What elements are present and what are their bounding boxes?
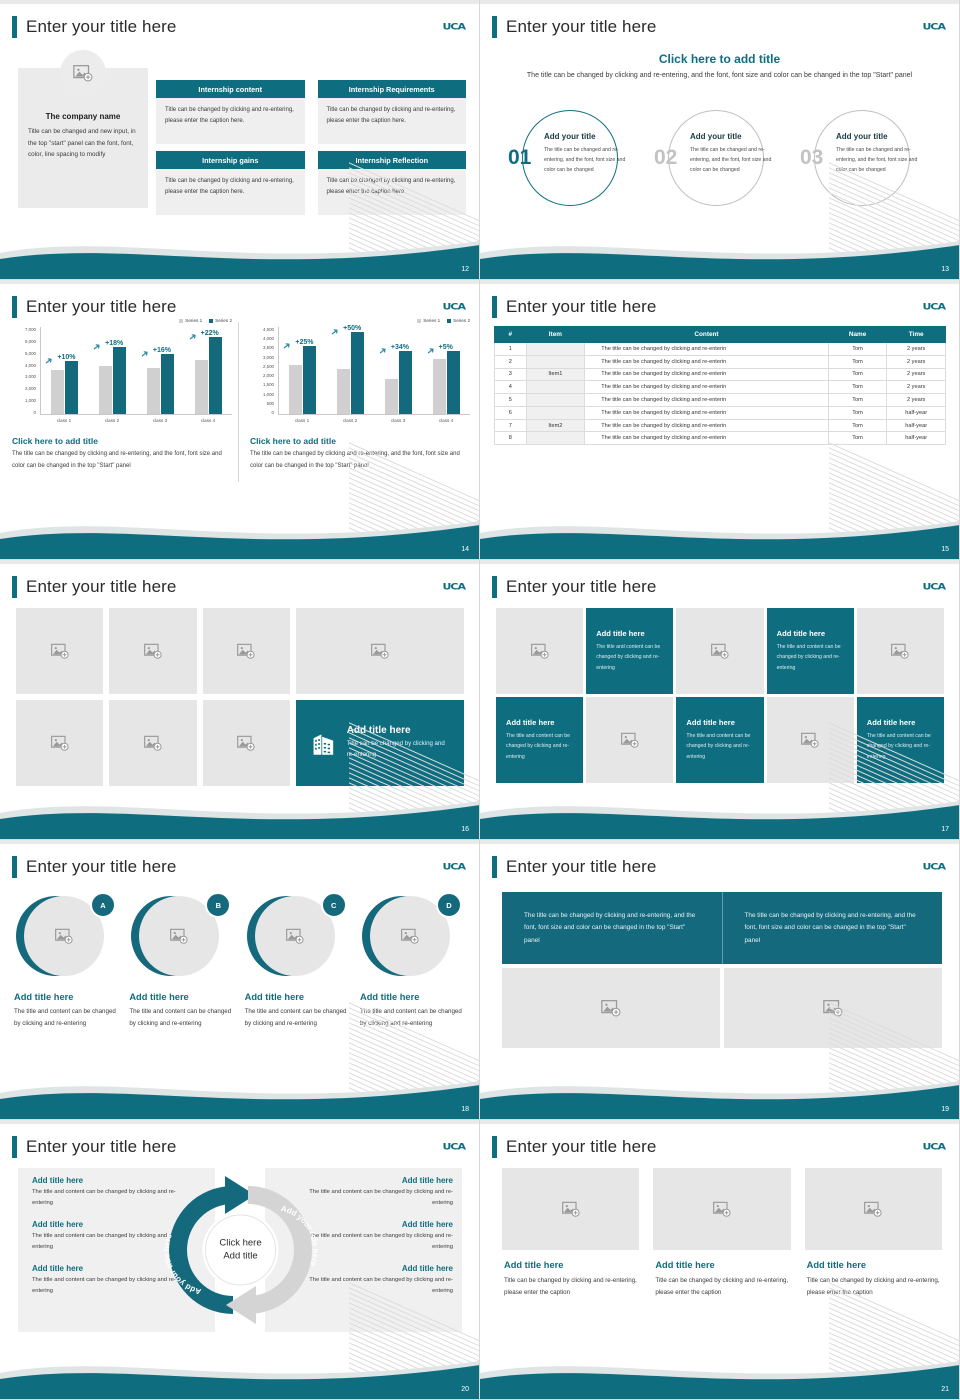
- uca-logo: UCA: [922, 1141, 945, 1151]
- circle-item[interactable]: CAdd title hereThe title and content can…: [245, 892, 351, 1030]
- legend-series-1: Series 1: [179, 318, 202, 323]
- bar-series-2: [351, 332, 364, 414]
- slide-18[interactable]: Enter your title here UCA AAdd title her…: [0, 840, 480, 1120]
- slide-header: Enter your title here: [12, 856, 176, 878]
- y-tick: 3,000: [25, 374, 36, 379]
- image-placeholder-icon: [710, 641, 730, 661]
- legend-series-2: Series 2: [447, 318, 470, 323]
- slide-number: 15: [941, 546, 949, 553]
- uca-logo: UCA: [922, 301, 945, 311]
- image-placeholder-icon: [285, 926, 305, 946]
- x-tick: class 4: [201, 418, 215, 423]
- y-tick: 2,000: [25, 386, 36, 391]
- internship-cards: Internship content Title can be changed …: [156, 80, 466, 215]
- step-02[interactable]: 02 Add your title The title can be chang…: [650, 110, 790, 218]
- item-body: The title and content can be changed by …: [245, 1006, 351, 1030]
- item-body: The title and content can be changed by …: [32, 1275, 182, 1297]
- x-axis-ticks: class 1class 2class 3class 4: [40, 418, 232, 423]
- step-text: Add your title The title can be changed …: [690, 132, 782, 175]
- card-title: Add title here: [502, 1260, 639, 1270]
- company-image-placeholder[interactable]: [60, 50, 106, 96]
- slide-header: Enter your title here: [492, 16, 656, 38]
- image-placeholder-icon: [143, 641, 163, 661]
- image-placeholder-icon: [50, 641, 70, 661]
- slide-16[interactable]: Enter your title here UCA: [0, 560, 480, 840]
- card-row: Add title hereTitle can be changed by cl…: [502, 1168, 942, 1299]
- y-tick: 3,000: [263, 355, 274, 360]
- item-title: Add title here: [32, 1176, 182, 1185]
- image-placeholder-icon: [600, 997, 622, 1019]
- item-title: Add title here: [32, 1264, 182, 1273]
- uca-logo: UCA: [922, 861, 945, 871]
- slide-20[interactable]: Enter your title here UCA Add title here…: [0, 1120, 480, 1400]
- slide-deck: Enter your title here UCA The company na…: [0, 0, 960, 1400]
- cell-time: 2 years: [887, 394, 946, 407]
- table-row[interactable]: 8The title can be changed by clicking an…: [495, 432, 946, 445]
- item-body: The title and content can be changed by …: [360, 1006, 466, 1030]
- tile-body: The title and content can be changed by …: [867, 731, 934, 763]
- tile-body: The title and content can be changed by …: [506, 731, 573, 763]
- tile-body: The title and content can be changed by …: [686, 731, 753, 763]
- slide-12[interactable]: Enter your title here UCA The company na…: [0, 0, 480, 280]
- image-placeholder-icon: [143, 733, 163, 753]
- title-accent-bar: [12, 16, 17, 38]
- growth-arrow-icon: ➜: [138, 347, 151, 361]
- image-placeholder-icon: [400, 926, 420, 946]
- cell-item: [526, 406, 585, 419]
- card-title: Internship content: [156, 80, 305, 98]
- bar-group: ➜+50%: [337, 327, 364, 414]
- tile-body: The title and content can be changed by …: [777, 642, 844, 674]
- slide-header: Enter your title here: [492, 576, 656, 598]
- card-body: Title can be changed by clicking and re-…: [318, 169, 467, 215]
- cell-item: [526, 381, 585, 394]
- cell-time: 2 years: [887, 355, 946, 368]
- tile-title: Add title here: [686, 718, 753, 727]
- chart-plot-area: ➜+25%➜+50%➜+34%➜+5%: [278, 327, 470, 415]
- bar-annotation: +10%: [57, 354, 75, 361]
- chart-caption-title[interactable]: Click here to add title: [250, 436, 336, 446]
- bar-series-2: [399, 351, 412, 414]
- page-title: Enter your title here: [26, 577, 176, 597]
- table-row[interactable]: 1The title can be changed by clicking an…: [495, 343, 946, 356]
- card-image-placeholder[interactable]: [805, 1168, 942, 1250]
- x-axis-ticks: class 1class 2class 3class 4: [278, 418, 470, 423]
- slide-13[interactable]: Enter your title here UCA Click here to …: [480, 0, 960, 280]
- slide-number: 12: [461, 266, 469, 273]
- page-title: Enter your title here: [26, 17, 176, 37]
- company-body: Title can be changed and new input, in t…: [28, 126, 138, 161]
- chart-caption-body: The title can be changed by clicking and…: [250, 449, 466, 472]
- card-body: Title can be changed by clicking and re-…: [502, 1275, 639, 1299]
- bar-series-1: [337, 369, 350, 414]
- page-title: Enter your title here: [506, 857, 656, 877]
- bar-series-1: [289, 365, 302, 414]
- cycle-item[interactable]: Add title hereThe title and content can …: [32, 1176, 182, 1209]
- y-tick: 2,000: [263, 373, 274, 378]
- item-title: Add title here: [360, 992, 466, 1002]
- image-placeholder-icon: [530, 641, 550, 661]
- card-image-placeholder[interactable]: [502, 1168, 639, 1250]
- bar-annotation: +22%: [201, 330, 219, 337]
- image-grid: Add title here Title can be changed by c…: [16, 608, 464, 786]
- bar-annotation: +18%: [105, 340, 123, 347]
- cell-item: [526, 394, 585, 407]
- feature-tile[interactable]: Add title here Title can be changed by c…: [296, 700, 464, 786]
- slide-header: Enter your title here: [492, 1136, 656, 1158]
- wave-footer: [480, 233, 960, 279]
- image-tile[interactable]: [857, 608, 944, 694]
- table-row[interactable]: 7Item2The title can be changed by clicki…: [495, 419, 946, 432]
- cell-index: 6: [495, 406, 527, 419]
- text-tile[interactable]: Add title hereThe title and content can …: [586, 608, 673, 694]
- slide-number: 21: [941, 1386, 949, 1393]
- slide-header: Enter your title here: [492, 856, 656, 878]
- step-body: The title can be changed and re-entering…: [690, 145, 782, 175]
- text-panels: The title can be changed by clicking and…: [502, 892, 942, 964]
- table-row[interactable]: 3Item1The title can be changed by clicki…: [495, 368, 946, 381]
- x-tick: class 2: [343, 418, 357, 423]
- card-body: Title can be changed by clicking and re-…: [156, 169, 305, 215]
- chart-caption-title[interactable]: Click here to add title: [12, 436, 98, 446]
- y-tick: 3,500: [263, 345, 274, 350]
- page-title: Enter your title here: [26, 297, 176, 317]
- wave-footer: [0, 513, 480, 559]
- item-title: Add title here: [14, 992, 120, 1002]
- step-body: The title can be changed and re-entering…: [836, 145, 928, 175]
- wave-footer: [480, 513, 960, 559]
- image-placeholder-icon: [863, 1199, 883, 1219]
- legend-series-2: Series 2: [209, 318, 232, 323]
- cycle-item[interactable]: Add title hereThe title and content can …: [32, 1220, 182, 1253]
- item-title: Add title here: [129, 992, 235, 1002]
- feature-body: Title can be changed by clicking and re-…: [347, 739, 448, 760]
- subheadline: The title can be changed by clicking and…: [480, 70, 959, 82]
- image-placeholder-icon: [50, 733, 70, 753]
- image-placeholder-icon: [169, 926, 189, 946]
- item-title: Add title here: [245, 992, 351, 1002]
- bar-chart-1[interactable]: Series 1 Series 2 7,0006,0005,0004,0003,…: [10, 318, 238, 493]
- title-accent-bar: [12, 576, 17, 598]
- image-tile[interactable]: [724, 968, 942, 1048]
- bar-group: ➜+10%: [51, 327, 78, 414]
- y-tick: 1,500: [263, 382, 274, 387]
- y-axis-ticks: 4,5004,0003,5003,0002,5002,0001,5001,000…: [248, 327, 274, 415]
- cell-name: Tom: [828, 394, 887, 407]
- y-tick: 2,500: [263, 364, 274, 369]
- page-title: Enter your title here: [506, 297, 656, 317]
- image-tile[interactable]: [16, 608, 103, 694]
- cell-content: The title can be changed by clicking and…: [585, 394, 829, 407]
- image-placeholder-icon: [236, 641, 256, 661]
- image-placeholder-icon: [712, 1199, 732, 1219]
- image-tile[interactable]: [586, 697, 673, 783]
- cycle-item[interactable]: Add title hereThe title and content can …: [32, 1264, 182, 1297]
- cell-content: The title can be changed by clicking and…: [585, 355, 829, 368]
- table-col-content: Content: [585, 327, 829, 343]
- cell-content: The title can be changed by clicking and…: [585, 381, 829, 394]
- text-tile[interactable]: Add title hereThe title and content can …: [857, 697, 944, 783]
- image-tile[interactable]: [767, 697, 854, 783]
- cell-time: half-year: [887, 406, 946, 419]
- table-row[interactable]: 4The title can be changed by clicking an…: [495, 381, 946, 394]
- card-body: Title can be changed by clicking and re-…: [805, 1275, 942, 1299]
- growth-arrow-icon: ➜: [186, 331, 199, 345]
- bar-series-1: [433, 359, 446, 414]
- cell-item: Item2: [526, 419, 585, 432]
- card-title: Add title here: [653, 1260, 790, 1270]
- feature-title: Add title here: [347, 725, 448, 736]
- uca-logo: UCA: [442, 581, 465, 591]
- title-accent-bar: [492, 856, 497, 878]
- step-03[interactable]: 03 Add your title The title can be chang…: [796, 110, 936, 218]
- cell-time: 2 years: [887, 381, 946, 394]
- slide-header: Enter your title here: [12, 16, 176, 38]
- image-tile[interactable]: [109, 608, 196, 694]
- wave-footer: [480, 1073, 960, 1119]
- slide-number: 17: [941, 826, 949, 833]
- image-placeholder-icon: [54, 926, 74, 946]
- slide-19[interactable]: Enter your title here UCA The title can …: [480, 840, 960, 1120]
- legend-series-1: Series 1: [417, 318, 440, 323]
- card-image-placeholder[interactable]: [653, 1168, 790, 1250]
- center-line-2: Add title: [219, 1250, 261, 1263]
- y-tick: 500: [267, 401, 274, 406]
- step-01[interactable]: 01 Add your title The title can be chang…: [504, 110, 644, 218]
- cell-index: 1: [495, 343, 527, 356]
- media-card[interactable]: Add title hereTitle can be changed by cl…: [805, 1168, 942, 1299]
- checkerboard-grid: Add title hereThe title and content can …: [496, 608, 944, 783]
- circle-badge: B: [205, 892, 231, 918]
- chart-legend: Series 1 Series 2: [179, 318, 232, 323]
- bar-series-1: [99, 366, 112, 414]
- wave-footer: [0, 233, 480, 279]
- step-number: 03: [800, 146, 823, 170]
- table-row[interactable]: 2The title can be changed by clicking an…: [495, 355, 946, 368]
- cell-item: [526, 432, 585, 445]
- bar-chart-2[interactable]: Series 1 Series 2 4,5004,0003,5003,0002,…: [248, 318, 476, 493]
- data-table[interactable]: #ItemContentNameTime 1The title can be c…: [494, 326, 946, 445]
- cycle-center-label[interactable]: Click here Add title: [219, 1237, 261, 1264]
- card-title: Add title here: [805, 1260, 942, 1270]
- page-title: Enter your title here: [506, 577, 656, 597]
- image-tile[interactable]: [502, 968, 720, 1048]
- card-body: Title can be changed by clicking and re-…: [318, 98, 467, 144]
- x-tick: class 2: [105, 418, 119, 423]
- table-col-name: Name: [828, 327, 887, 343]
- page-title: Enter your title here: [506, 1137, 656, 1157]
- table-row[interactable]: 6The title can be changed by clicking an…: [495, 406, 946, 419]
- step-number: 01: [508, 146, 531, 170]
- item-body: The title and content can be changed by …: [129, 1006, 235, 1030]
- card-title: Internship Requirements: [318, 80, 467, 98]
- slide-number: 18: [461, 1106, 469, 1113]
- y-tick: 7,000: [25, 327, 36, 332]
- card-internship-requirements[interactable]: Internship Requirements Title can be cha…: [318, 80, 467, 144]
- slide-header: Enter your title here: [12, 1136, 176, 1158]
- cell-time: 2 years: [887, 368, 946, 381]
- bar-annotation: +50%: [343, 325, 361, 332]
- x-tick: class 1: [57, 418, 71, 423]
- image-tile[interactable]: [203, 608, 290, 694]
- circle-graphic: B: [129, 892, 235, 980]
- chart-plot-area: ➜+10%➜+18%➜+16%➜+22%: [40, 327, 232, 415]
- cell-time: half-year: [887, 432, 946, 445]
- growth-arrow-icon: ➜: [424, 345, 437, 359]
- card-title: Internship gains: [156, 151, 305, 169]
- slide-21[interactable]: Enter your title here UCA Add title here…: [480, 1120, 960, 1400]
- title-accent-bar: [492, 16, 497, 38]
- cell-index: 2: [495, 355, 527, 368]
- wave-footer: [480, 793, 960, 839]
- growth-arrow-icon: ➜: [376, 345, 389, 359]
- bar-group: ➜+5%: [433, 327, 460, 414]
- page-title: Enter your title here: [26, 857, 176, 877]
- text-tile[interactable]: Add title hereThe title and content can …: [767, 608, 854, 694]
- card-internship-gains[interactable]: Internship gains Title can be changed by…: [156, 151, 305, 215]
- y-tick: 4,000: [25, 363, 36, 368]
- title-accent-bar: [492, 296, 497, 318]
- circle-graphic: D: [360, 892, 466, 980]
- cell-name: Tom: [828, 343, 887, 356]
- uca-logo: UCA: [922, 581, 945, 591]
- circle-items: AAdd title hereThe title and content can…: [14, 892, 466, 1030]
- page-title: Enter your title here: [506, 17, 656, 37]
- slide-17[interactable]: Enter your title here UCA Add title here…: [480, 560, 960, 840]
- y-tick: 0: [272, 410, 274, 415]
- growth-arrow-icon: ➜: [281, 339, 294, 353]
- cell-name: Tom: [828, 432, 887, 445]
- circle-badge: C: [321, 892, 347, 918]
- image-placeholder-icon: [620, 730, 640, 750]
- tile-title: Add title here: [506, 718, 573, 727]
- card-internship-content[interactable]: Internship content Title can be changed …: [156, 80, 305, 144]
- uca-logo: UCA: [442, 1141, 465, 1151]
- building-icon: [312, 727, 336, 759]
- image-placeholder-icon: [72, 62, 94, 84]
- tile-title: Add title here: [867, 718, 934, 727]
- bar-annotation: +5%: [439, 344, 453, 351]
- title-accent-bar: [492, 576, 497, 598]
- y-tick: 4,500: [263, 327, 274, 332]
- cell-index: 5: [495, 394, 527, 407]
- image-placeholder-icon: [800, 730, 820, 750]
- wave-footer: [480, 1353, 960, 1399]
- slide-header: Enter your title here: [12, 576, 176, 598]
- text-panel-right[interactable]: The title can be changed by clicking and…: [722, 892, 943, 964]
- card-internship-reflection[interactable]: Internship Reflection Title can be chang…: [318, 151, 467, 215]
- uca-logo: UCA: [442, 301, 465, 311]
- image-tile[interactable]: [296, 608, 464, 694]
- title-accent-bar: [12, 296, 17, 318]
- bar-series-2: [209, 337, 222, 414]
- bar-series-1: [147, 368, 160, 415]
- y-tick: 1,000: [25, 398, 36, 403]
- cell-name: Tom: [828, 419, 887, 432]
- tile-title: Add title here: [596, 629, 663, 638]
- bar-group: ➜+25%: [289, 327, 316, 414]
- title-accent-bar: [492, 1136, 497, 1158]
- card-body: Title can be changed by clicking and re-…: [156, 98, 305, 144]
- title-accent-bar: [12, 1136, 17, 1158]
- circle-badge: D: [436, 892, 462, 918]
- text-panel-left[interactable]: The title can be changed by clicking and…: [502, 892, 722, 964]
- chart-caption-body: The title can be changed by clicking and…: [12, 449, 228, 472]
- image-panels: [502, 968, 942, 1048]
- slide-number: 20: [461, 1386, 469, 1393]
- uca-logo: UCA: [442, 21, 465, 31]
- chart-legend: Series 1 Series 2: [417, 318, 470, 323]
- slide-14[interactable]: Enter your title here UCA Series 1 Serie…: [0, 280, 480, 560]
- media-card[interactable]: Add title hereTitle can be changed by cl…: [502, 1168, 639, 1299]
- table-row[interactable]: 5The title can be changed by clicking an…: [495, 394, 946, 407]
- slide-header: Enter your title here: [492, 296, 656, 318]
- cycle-diagram[interactable]: Add your title here Add your title here …: [163, 1170, 318, 1330]
- step-text: Add your title The title can be changed …: [544, 132, 636, 175]
- bar-annotation: +16%: [153, 347, 171, 354]
- wave-footer: [0, 1073, 480, 1119]
- table-col-item: Item: [526, 327, 585, 343]
- table-header-row: #ItemContentNameTime: [495, 327, 946, 343]
- media-card[interactable]: Add title hereTitle can be changed by cl…: [653, 1168, 790, 1299]
- image-placeholder-icon: [822, 997, 844, 1019]
- cell-time: half-year: [887, 419, 946, 432]
- cell-index: 3: [495, 368, 527, 381]
- text-tile[interactable]: Add title hereThe title and content can …: [496, 697, 583, 783]
- y-tick: 5,000: [25, 351, 36, 356]
- image-tile[interactable]: [203, 700, 290, 786]
- slide-15[interactable]: Enter your title here UCA #ItemContentNa…: [480, 280, 960, 560]
- circle-item[interactable]: AAdd title hereThe title and content can…: [14, 892, 120, 1030]
- circle-item[interactable]: DAdd title hereThe title and content can…: [360, 892, 466, 1030]
- cell-content: The title can be changed by clicking and…: [585, 368, 829, 381]
- circle-graphic: C: [245, 892, 351, 980]
- wave-footer: [0, 1353, 480, 1399]
- y-tick: 1,000: [263, 392, 274, 397]
- wave-footer: [0, 793, 480, 839]
- slide-number: 19: [941, 1106, 949, 1113]
- item-body: The title and content can be changed by …: [14, 1006, 120, 1030]
- title-accent-bar: [12, 856, 17, 878]
- circle-item[interactable]: BAdd title hereThe title and content can…: [129, 892, 235, 1030]
- y-tick: 6,000: [25, 339, 36, 344]
- bar-series-1: [51, 370, 64, 414]
- feature-text: Add title here Title can be changed by c…: [347, 725, 448, 760]
- text-tile[interactable]: Add title hereThe title and content can …: [676, 697, 763, 783]
- bar-series-2: [65, 361, 78, 414]
- center-line-1: Click here: [219, 1237, 261, 1250]
- cell-index: 8: [495, 432, 527, 445]
- table-col-time: Time: [887, 327, 946, 343]
- x-tick: class 3: [391, 418, 405, 423]
- bar-series-2: [303, 346, 316, 414]
- image-tile[interactable]: [496, 608, 583, 694]
- bar-annotation: +25%: [295, 339, 313, 346]
- company-name: The company name: [28, 112, 138, 121]
- slide-number: 14: [461, 546, 469, 553]
- headline[interactable]: Click here to add title: [480, 52, 959, 66]
- cell-item: [526, 355, 585, 368]
- image-tile[interactable]: [676, 608, 763, 694]
- cell-item: [526, 343, 585, 356]
- tile-body: The title and content can be changed by …: [596, 642, 663, 674]
- uca-logo: UCA: [442, 861, 465, 871]
- step-number: 02: [654, 146, 677, 170]
- cell-time: 2 years: [887, 343, 946, 356]
- image-tile[interactable]: [109, 700, 196, 786]
- image-tile[interactable]: [16, 700, 103, 786]
- card-title: Internship Reflection: [318, 151, 467, 169]
